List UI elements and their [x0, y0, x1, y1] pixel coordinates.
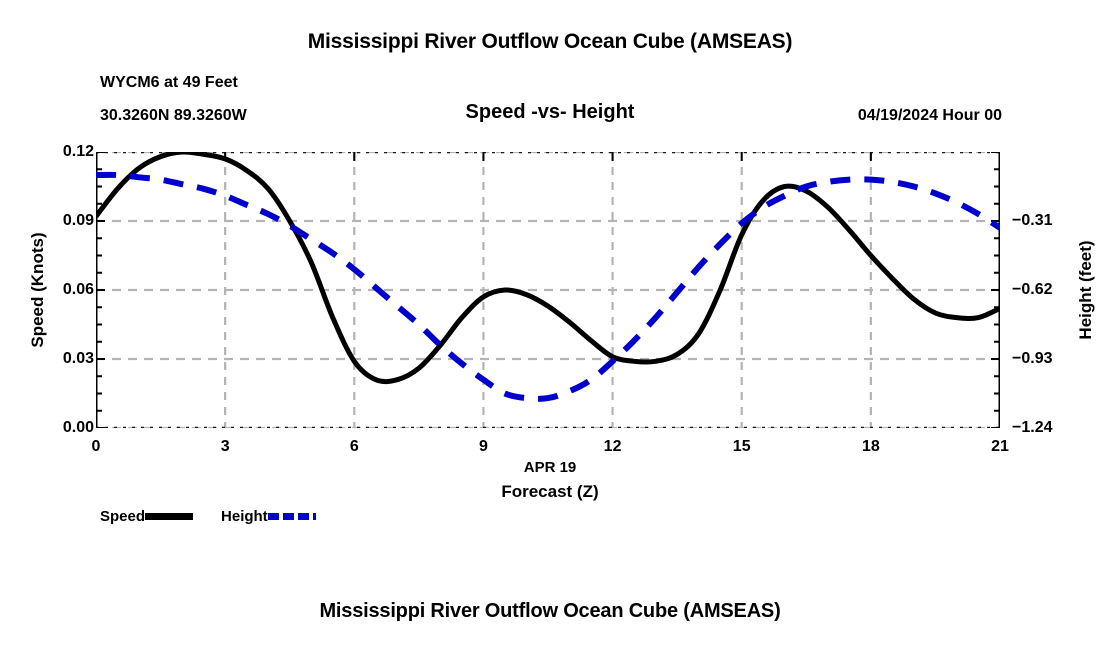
legend-item-speed: Speed	[100, 508, 221, 525]
x-ticklabel: 3	[221, 438, 230, 456]
footer-title: Mississippi River Outflow Ocean Cube (AM…	[0, 600, 1100, 623]
x-axis-label: Forecast (Z)	[0, 482, 1100, 502]
y-ticklabel-left: 0.00	[63, 419, 94, 437]
plot-area: Speed (Knots) Height (feet) 0.000.030.06…	[96, 152, 1000, 428]
y-ticklabel-right: −0.93	[1012, 350, 1052, 368]
x-ticklabel: 12	[604, 438, 622, 456]
y-ticklabel-right: −0.62	[1012, 281, 1052, 299]
page-title: Mississippi River Outflow Ocean Cube (AM…	[0, 30, 1100, 54]
y-ticklabel-left: 0.06	[63, 281, 94, 299]
chart-legend: Speed Height	[100, 508, 316, 525]
series-line-speed	[96, 152, 1000, 382]
legend-label-height: Height	[221, 508, 268, 525]
y-ticklabel-right: −1.24	[1012, 419, 1052, 437]
x-ticklabel: 15	[733, 438, 751, 456]
legend-swatch-height-icon	[268, 513, 316, 520]
y-axis-label-left: Speed (Knots)	[28, 232, 48, 347]
y-ticklabel-right: −0.31	[1012, 212, 1052, 230]
y-axis-label-right: Height (feet)	[1076, 240, 1096, 339]
x-axis-date-label: APR 19	[0, 459, 1100, 476]
series-line-height	[96, 175, 1000, 399]
x-ticklabel: 18	[862, 438, 880, 456]
chart-canvas	[96, 152, 1000, 428]
station-id-label: WYCM6 at 49 Feet	[100, 74, 238, 92]
y-ticklabel-left: 0.03	[63, 350, 94, 368]
forecast-datestamp: 04/19/2024 Hour 00	[858, 107, 1002, 125]
legend-label-speed: Speed	[100, 508, 145, 525]
x-ticklabel: 21	[991, 438, 1009, 456]
y-ticklabel-left: 0.09	[63, 212, 94, 230]
y-ticklabel-left: 0.12	[63, 143, 94, 161]
x-ticklabel: 6	[350, 438, 359, 456]
chart-page: Mississippi River Outflow Ocean Cube (AM…	[0, 0, 1100, 650]
x-ticklabel: 9	[479, 438, 488, 456]
gridlines	[96, 152, 1000, 428]
legend-swatch-speed-icon	[145, 513, 193, 520]
legend-item-height: Height	[221, 508, 316, 525]
data-series	[96, 152, 1000, 399]
x-ticklabel: 0	[92, 438, 101, 456]
